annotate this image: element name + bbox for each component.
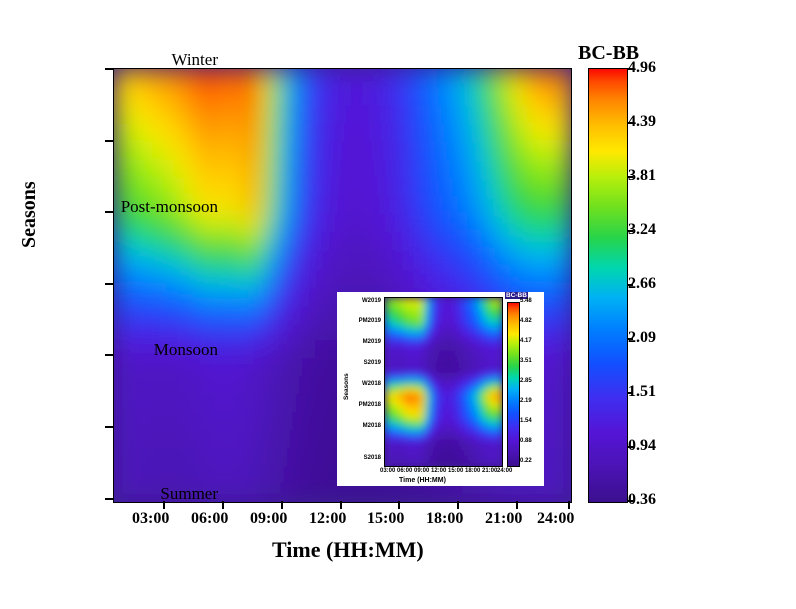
inset-colorbar-tick-022: 0.22: [520, 458, 532, 464]
inset-heatmap-canvas: [385, 298, 502, 466]
inset-colorbar-tick-548: 5.48: [520, 298, 532, 304]
x-tick-1800: [457, 501, 459, 509]
inset-x-label-1200: 12:00: [431, 468, 446, 474]
inset-y-label-w2019: W2019: [343, 298, 381, 304]
inset-colorbar-tick-417: 4.17: [520, 338, 532, 344]
colorbar-tick-439: 4.39: [628, 113, 656, 131]
inset-x-axis-title: Time (HH:MM): [399, 477, 446, 484]
inset-x-label-1500: 15:00: [448, 468, 463, 474]
x-tick-label-1200: 12:00: [309, 510, 346, 528]
colorbar-tick-151: 1.51: [628, 383, 656, 401]
inset-colorbar-tick-219: 2.19: [520, 398, 532, 404]
inset-x-label-0900: 09:00: [414, 468, 429, 474]
x-tick-label-2100: 21:00: [485, 510, 522, 528]
x-tick-0600: [222, 501, 224, 509]
inset-y-label-pm2018: PM2018: [343, 402, 381, 408]
colorbar-tick-381: 3.81: [628, 167, 656, 185]
y-tick-winter: [105, 68, 113, 70]
y-tick-minor-3: [105, 426, 113, 428]
x-tick-1200: [340, 501, 342, 509]
y-tick-minor-2: [105, 283, 113, 285]
inset-colorbar-tick-154: 1.54: [520, 418, 532, 424]
x-tick-2100: [516, 501, 518, 509]
y-tick-postmonsoon: [105, 211, 113, 213]
y-tick-summer: [105, 498, 113, 500]
inset-y-label-s2018: S2018: [343, 455, 381, 461]
x-tick-label-1800: 18:00: [426, 510, 463, 528]
inset-x-label-0300: 03:00: [380, 468, 395, 474]
x-tick-label-2400: 24:00: [537, 510, 574, 528]
inset-y-axis-title: Seasons: [343, 373, 350, 400]
inset-colorbar: [507, 302, 520, 467]
inset-colorbar-tick-088: 0.88: [520, 438, 532, 444]
x-tick-label-0900: 09:00: [250, 510, 287, 528]
x-tick-1500: [398, 501, 400, 509]
colorbar-tick-324: 3.24: [628, 221, 656, 239]
x-axis-title: Time (HH:MM): [272, 537, 424, 563]
y-tick-monsoon: [105, 354, 113, 356]
x-tick-label-0300: 03:00: [132, 510, 169, 528]
y-tick-minor-1: [105, 140, 113, 142]
inset-x-label-2100: 21:00: [482, 468, 497, 474]
inset-y-label-s2019: S2019: [343, 360, 381, 366]
inset-x-label-0600: 06:00: [397, 468, 412, 474]
inset-y-label-m2018: M2018: [343, 423, 381, 429]
colorbar-tick-209: 2.09: [628, 329, 656, 347]
x-tick-0900: [281, 501, 283, 509]
inset-colorbar-tick-285: 2.85: [520, 378, 532, 384]
colorbar-tick-094: 0.94: [628, 437, 656, 455]
inset-heatmap-plot: [384, 297, 503, 467]
x-tick-0300: [163, 501, 165, 509]
y-tick-label-winter: Winter: [171, 50, 218, 70]
x-tick-label-1500: 15:00: [367, 510, 404, 528]
x-tick-label-0600: 06:00: [191, 510, 228, 528]
colorbar-tick-266: 2.66: [628, 275, 656, 293]
x-tick-2400: [568, 501, 570, 509]
colorbar: [588, 68, 628, 503]
inset-y-label-m2019: M2019: [343, 339, 381, 345]
inset-x-label-1800: 18:00: [465, 468, 480, 474]
colorbar-tick-036: 0.36: [628, 491, 656, 509]
inset-y-label-pm2019: PM2019: [343, 318, 381, 324]
inset-colorbar-tick-351: 3.51: [520, 358, 532, 364]
inset-colorbar-tick-482: 4.82: [520, 318, 532, 324]
colorbar-tick-496: 4.96: [628, 59, 656, 77]
y-axis-title: Seasons: [18, 181, 41, 248]
inset-x-label-2400: 24:00: [497, 468, 512, 474]
inset-chart: W2019 PM2019 M2019 S2019 W2018 PM2018 M2…: [337, 292, 544, 486]
